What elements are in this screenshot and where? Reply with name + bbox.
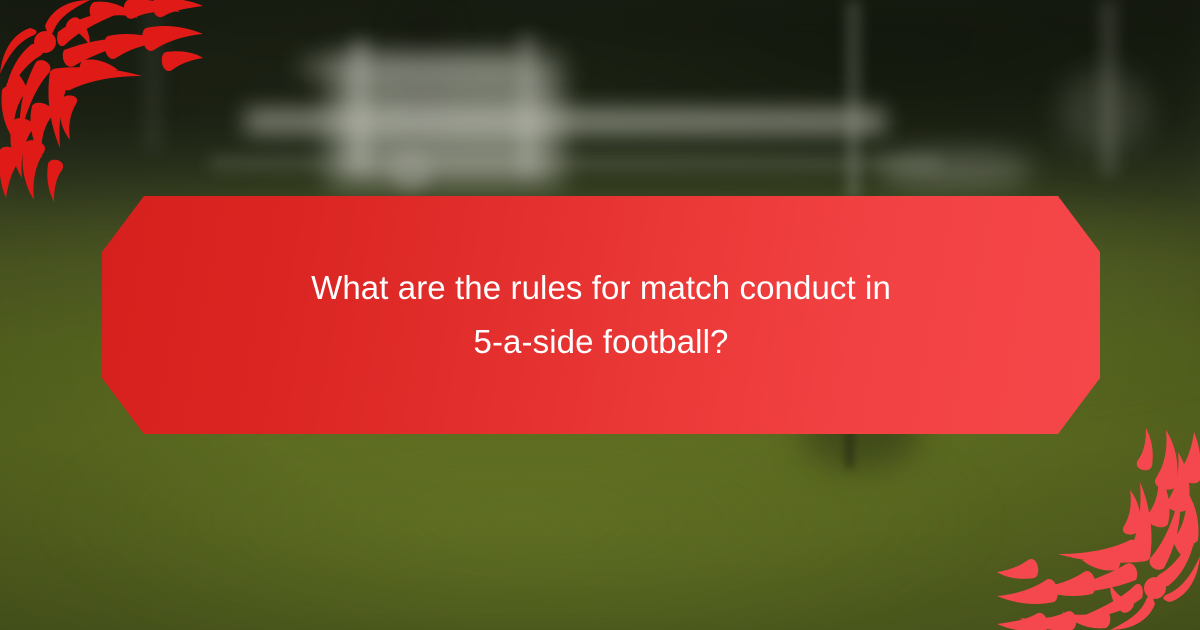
headline-text: What are the rules for match conduct in … xyxy=(311,261,891,369)
headline-banner: What are the rules for match conduct in … xyxy=(102,196,1100,434)
social-share-card: What are the rules for match conduct in … xyxy=(0,0,1200,630)
